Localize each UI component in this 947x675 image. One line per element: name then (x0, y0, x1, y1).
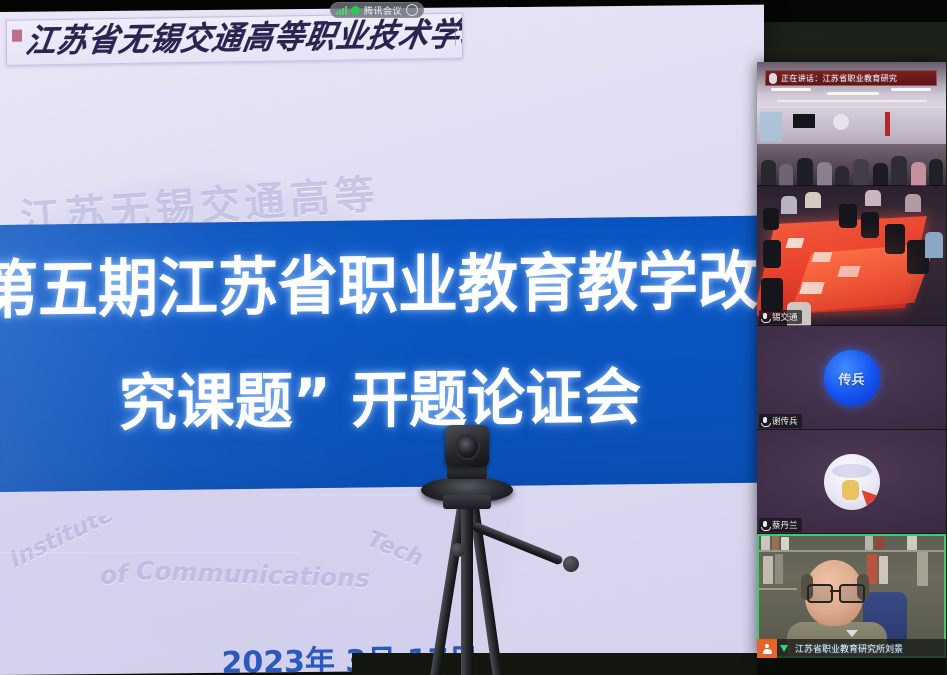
room-back-wall (757, 108, 946, 144)
active-speaker-bar[interactable]: 江苏省职业教育研究所刘景 (757, 639, 946, 658)
book (917, 552, 928, 586)
circle-icon[interactable] (406, 4, 418, 16)
chevron-down-icon[interactable] (846, 630, 858, 637)
active-speaker-label: 正在讲话：江苏省职业教育研究 (781, 73, 897, 84)
room-flag (885, 112, 890, 136)
avatar (824, 454, 880, 510)
video-tile-xie-chuanbing[interactable]: 传兵 谢传兵 (757, 326, 946, 430)
signal-bars-icon (336, 6, 347, 15)
tripod-center-column (461, 507, 473, 675)
mic-level-icon (777, 639, 791, 658)
camera-neck (447, 465, 487, 479)
room-wall-emblem (833, 114, 849, 130)
book (907, 536, 917, 550)
avatar: 传兵 (824, 350, 880, 406)
strip-footer-shadow (757, 658, 946, 675)
active-speaker-name: 江苏省职业教育研究所刘景 (791, 639, 946, 658)
book (781, 537, 789, 550)
book (775, 554, 783, 584)
participant-name: 蔡丹兰 (772, 519, 798, 531)
ceiling-light (827, 92, 879, 95)
school-name-banner: 江苏省无锡交通高等职业技术学校 (6, 13, 463, 66)
book (865, 536, 873, 550)
active-speaker-banner: 正在讲话：江苏省职业教育研究 (765, 70, 937, 86)
mic-icon (761, 313, 769, 322)
tripod-camera-rig (395, 425, 585, 675)
banner-edge (455, 24, 456, 46)
tencent-meeting-status-pill[interactable]: 腾讯会议 (330, 2, 424, 18)
participant-name: 谢传兵 (772, 415, 798, 427)
mic-icon (761, 521, 769, 530)
mic-active-icon (351, 6, 360, 15)
seal-icon (12, 30, 22, 42)
book (761, 536, 770, 550)
camera-mount-plate (443, 495, 491, 509)
avatar-photo-detail (842, 480, 859, 500)
mic-icon (769, 73, 777, 84)
slide-title-line-2: 究课题” 开题论证会 (0, 355, 760, 445)
book (763, 556, 773, 584)
book (879, 556, 888, 584)
camera-lens-icon (457, 436, 478, 458)
glasses-bridge (830, 590, 839, 592)
school-name-text: 江苏省无锡交通高等职业技术学校 (23, 14, 444, 64)
bookshelf-edge (757, 588, 797, 590)
video-tile-conference-room[interactable]: 正在讲话：江苏省职业教育研究 (757, 62, 946, 186)
table-glow (757, 186, 946, 326)
ceiling-light (891, 88, 931, 91)
participant-name: 锡交通 (772, 311, 798, 323)
status-pill-label: 腾讯会议 (364, 4, 402, 17)
meeting-room-photo: 江苏无锡交通高等 Institute of Communications Tec… (0, 0, 947, 675)
book (875, 534, 884, 550)
book (772, 535, 779, 550)
ceiling-light (777, 100, 927, 102)
video-participant-strip[interactable]: 正在讲话：江苏省职业教育研究 (757, 62, 946, 658)
tripod-lock-knob (451, 543, 465, 557)
tile-video-feed (757, 186, 946, 326)
pan-handle-knob (563, 556, 579, 572)
slide-divider-1 (0, 552, 300, 553)
participant-icon[interactable] (757, 639, 777, 658)
avatar-initials: 传兵 (838, 369, 864, 388)
video-tile-active-speaker[interactable]: 江苏省职业教育研究所刘景 (757, 534, 946, 658)
room-attendees (757, 140, 946, 186)
room-display (793, 114, 815, 128)
room-window (760, 112, 782, 142)
participant-name-chip: 蔡丹兰 (759, 518, 802, 532)
mic-icon (761, 417, 769, 426)
ceiling-light (771, 88, 811, 91)
participant-name-chip: 谢传兵 (759, 414, 802, 428)
watermark-english: Institute of Communications Tech (0, 516, 458, 606)
video-tile-cai-danlan[interactable]: 蔡丹兰 (757, 430, 946, 534)
slide-title-line-1: 第五期江苏省职业教育教学改革 (0, 241, 764, 332)
projection-screen: 江苏无锡交通高等 Institute of Communications Tec… (0, 5, 764, 675)
video-tile-red-table-room[interactable]: 锡交通 (757, 186, 946, 326)
avatar-photo-detail (832, 464, 872, 478)
participant-name-chip: 锡交通 (759, 310, 802, 324)
glasses-icon (839, 584, 865, 603)
glasses-icon (807, 584, 833, 603)
